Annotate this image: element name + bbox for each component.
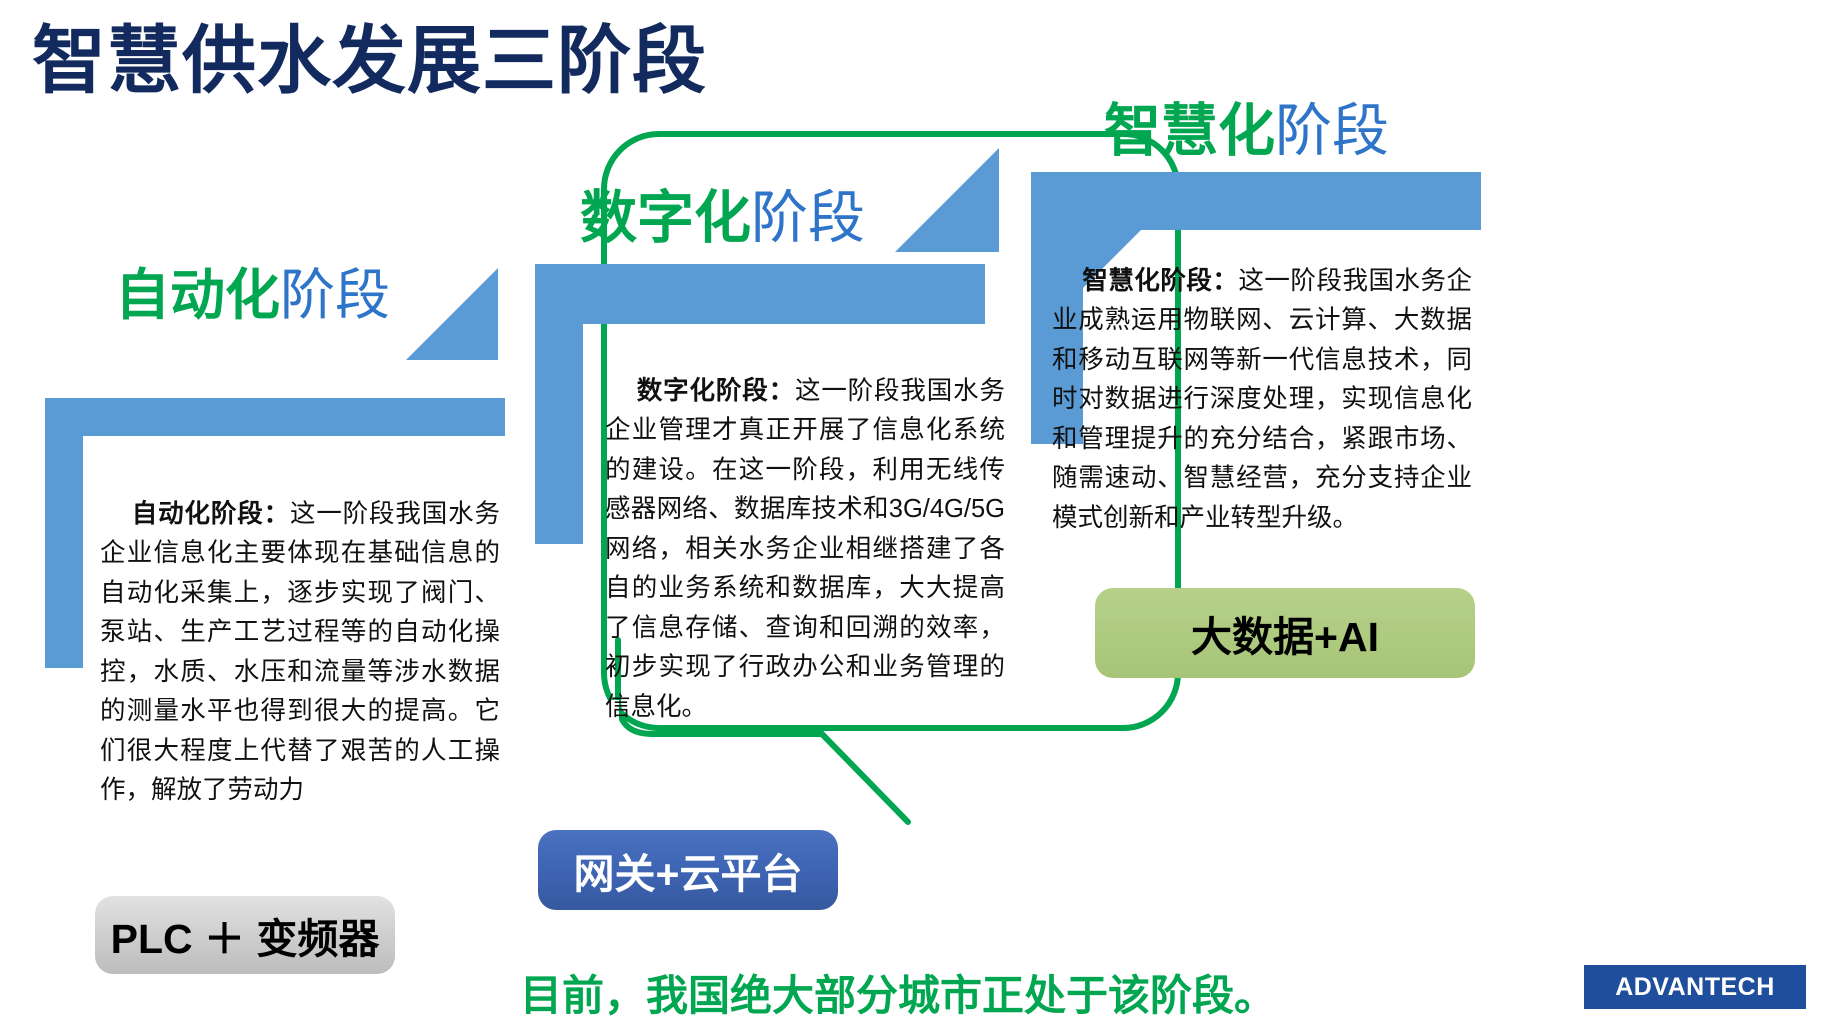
stage-heading-intelligent-highlight: 智慧化 <box>1104 99 1275 163</box>
frame-stage-2-top-bar <box>535 264 985 324</box>
stage-body-digitalization-text: 这一阶段我国水务企业管理才真正开展了信息化系统的建设。在这一阶段，利用无线传感器… <box>605 377 1005 721</box>
stage-heading-automation-rest: 阶段 <box>280 264 390 326</box>
stage-heading-automation-highlight: 自动化 <box>115 264 280 326</box>
stage-body-automation-label: 自动化阶段： <box>132 500 290 528</box>
stage-body-intelligent-label: 智慧化阶段： <box>1082 267 1238 295</box>
bottom-caption: 目前，我国绝大部分城市正处于该阶段。 <box>520 962 1276 1023</box>
advantech-logo: ADVANTECH <box>1584 965 1806 1009</box>
pill-gateway-cloud-label: 网关+云平台 <box>574 840 803 900</box>
triangle-decoration-stage-2 <box>895 148 999 252</box>
stage-body-automation: 自动化阶段：这一阶段我国水务企业信息化主要体现在基础信息的自动化采集上，逐步实现… <box>100 455 500 850</box>
pill-plc-inverter-label: PLC ＋ 变频器 <box>111 905 380 965</box>
stage-body-intelligent-text: 这一阶段我国水务企业成熟运用物联网、云计算、大数据和移动互联网等新一代信息技术，… <box>1052 267 1472 532</box>
stage-body-intelligent: 智慧化阶段：这一阶段我国水务企业成熟运用物联网、云计算、大数据和移动互联网等新一… <box>1052 222 1472 578</box>
pill-bigdata-ai-label: 大数据+AI <box>1191 603 1379 663</box>
stage-heading-intelligent: 智慧化阶段 <box>1104 103 1389 160</box>
frame-stage-1-left-bar <box>45 398 83 668</box>
stage-body-digitalization: 数字化阶段：这一阶段我国水务企业管理才真正开展了信息化系统的建设。在这一阶段，利… <box>605 332 1005 767</box>
frame-stage-2-left-bar <box>535 264 583 544</box>
stage-heading-digitalization-rest: 阶段 <box>751 186 865 250</box>
stage-heading-intelligent-rest: 阶段 <box>1275 99 1389 163</box>
frame-stage-1-top-bar <box>45 398 505 436</box>
page-title: 智慧供水发展三阶段 <box>32 22 707 100</box>
pill-bigdata-ai[interactable]: 大数据+AI <box>1095 588 1475 678</box>
pill-plc-inverter[interactable]: PLC ＋ 变频器 <box>95 896 395 974</box>
slide-root: 智慧供水发展三阶段 自动化阶段 自动化阶段：这一阶段我国水务企业信息化主要体现在… <box>0 0 1833 1024</box>
stage-heading-digitalization-highlight: 数字化 <box>580 186 751 250</box>
stage-body-digitalization-label: 数字化阶段： <box>637 377 795 405</box>
advantech-logo-text: ADVANTECH <box>1615 973 1775 1002</box>
pill-gateway-cloud[interactable]: 网关+云平台 <box>538 830 838 910</box>
stage-heading-digitalization: 数字化阶段 <box>580 190 865 247</box>
triangle-decoration-stage-1 <box>406 268 498 360</box>
stage-heading-automation: 自动化阶段 <box>115 268 390 323</box>
stage-body-automation-text: 这一阶段我国水务企业信息化主要体现在基础信息的自动化采集上，逐步实现了阀门、泵站… <box>100 500 500 805</box>
